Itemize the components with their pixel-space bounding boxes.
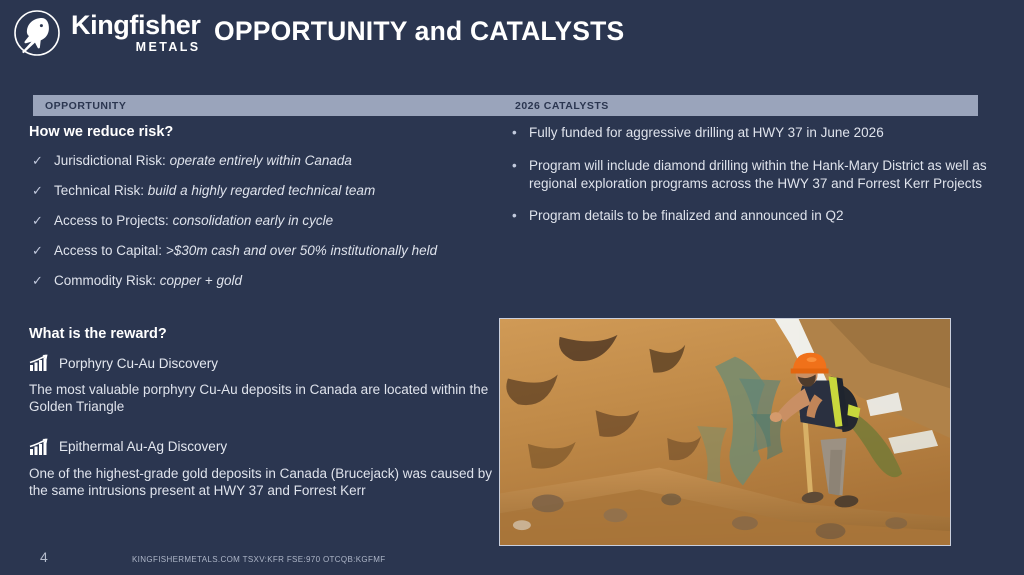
list-item-detail: copper + gold xyxy=(160,273,242,288)
catalysts-list: • Fully funded for aggressive drilling a… xyxy=(512,124,990,225)
bar-chart-growth-icon xyxy=(29,438,49,456)
section-bar-opportunity: OPPORTUNITY xyxy=(33,95,505,116)
list-item-detail: build a highly regarded technical team xyxy=(148,183,375,198)
check-icon: ✓ xyxy=(29,213,54,229)
list-item-label: Access to Capital: xyxy=(54,243,162,258)
section-bar-catalysts-label: 2026 CATALYSTS xyxy=(505,100,609,112)
opportunity-heading: How we reduce risk? xyxy=(29,124,499,140)
page-title: OPPORTUNITY and CATALYSTS xyxy=(214,16,624,47)
reward-heading: What is the reward? xyxy=(29,326,499,342)
page-number: 4 xyxy=(40,549,48,565)
reward-row-porphyry: Porphyry Cu-Au Discovery xyxy=(29,354,499,372)
opportunity-column: How we reduce risk? ✓ Jurisdictional Ris… xyxy=(29,124,499,302)
list-item-detail: >$30m cash and over 50% institutionally … xyxy=(166,243,437,258)
list-item-text: Access to Projects: consolidation early … xyxy=(54,213,333,230)
brand-subname: METALS xyxy=(71,41,201,54)
list-item: ✓ Access to Capital: >$30m cash and over… xyxy=(29,243,499,260)
list-item-label: Jurisdictional Risk: xyxy=(54,153,166,168)
list-item: • Fully funded for aggressive drilling a… xyxy=(512,124,990,142)
list-item-label: Commodity Risk: xyxy=(54,273,156,288)
list-item: • Program will include diamond drilling … xyxy=(512,157,990,193)
check-icon: ✓ xyxy=(29,153,54,169)
reward-body: The most valuable porphyry Cu-Au deposit… xyxy=(29,381,499,416)
kingfisher-bird-circle-icon xyxy=(12,8,62,58)
catalysts-column: • Fully funded for aggressive drilling a… xyxy=(512,124,990,240)
list-item: ✓ Technical Risk: build a highly regarde… xyxy=(29,183,499,200)
list-item-label: Technical Risk: xyxy=(54,183,144,198)
bar-chart-growth-icon xyxy=(29,354,49,372)
section-bar-opportunity-label: OPPORTUNITY xyxy=(33,100,126,112)
list-item-text: Commodity Risk: copper + gold xyxy=(54,273,242,290)
bullet-icon: • xyxy=(512,124,529,142)
section-bar-catalysts: 2026 CATALYSTS xyxy=(505,95,978,116)
brand-wordmark: Kingfisher METALS xyxy=(71,12,201,54)
list-item-text: Fully funded for aggressive drilling at … xyxy=(529,124,884,142)
risk-reduction-list: ✓ Jurisdictional Risk: operate entirely … xyxy=(29,153,499,289)
brand-logo: Kingfisher METALS xyxy=(12,8,201,58)
list-item-detail: operate entirely within Canada xyxy=(170,153,352,168)
ticker-line: KINGFISHERMETALS.COM TSXV:KFR FSE:970 OT… xyxy=(132,555,385,564)
list-item-detail: consolidation early in cycle xyxy=(173,213,334,228)
field-geology-photo xyxy=(499,318,951,546)
slide-header: Kingfisher METALS OPPORTUNITY and CATALY… xyxy=(0,0,1024,68)
list-item: ✓ Jurisdictional Risk: operate entirely … xyxy=(29,153,499,170)
check-icon: ✓ xyxy=(29,183,54,199)
brand-name: Kingfisher xyxy=(71,12,201,39)
list-item: ✓ Commodity Risk: copper + gold xyxy=(29,273,499,290)
list-item: ✓ Access to Projects: consolidation earl… xyxy=(29,213,499,230)
reward-section: What is the reward? Porphyry Cu-Au Disco… xyxy=(29,326,499,521)
reward-label: Porphyry Cu-Au Discovery xyxy=(59,356,218,371)
list-item-text: Technical Risk: build a highly regarded … xyxy=(54,183,375,200)
bullet-icon: • xyxy=(512,157,529,175)
reward-body: One of the highest-grade gold deposits i… xyxy=(29,465,499,500)
list-item-text: Access to Capital: >$30m cash and over 5… xyxy=(54,243,437,260)
list-item-label: Access to Projects: xyxy=(54,213,169,228)
bullet-icon: • xyxy=(512,207,529,225)
check-icon: ✓ xyxy=(29,243,54,259)
list-item-text: Program will include diamond drilling wi… xyxy=(529,157,990,193)
reward-row-epithermal: Epithermal Au-Ag Discovery xyxy=(29,438,499,456)
reward-label: Epithermal Au-Ag Discovery xyxy=(59,439,227,454)
check-icon: ✓ xyxy=(29,273,54,289)
slide-root: Kingfisher METALS OPPORTUNITY and CATALY… xyxy=(0,0,1024,575)
list-item-text: Jurisdictional Risk: operate entirely wi… xyxy=(54,153,352,170)
list-item: • Program details to be finalized and an… xyxy=(512,207,990,225)
list-item-text: Program details to be finalized and anno… xyxy=(529,207,843,225)
